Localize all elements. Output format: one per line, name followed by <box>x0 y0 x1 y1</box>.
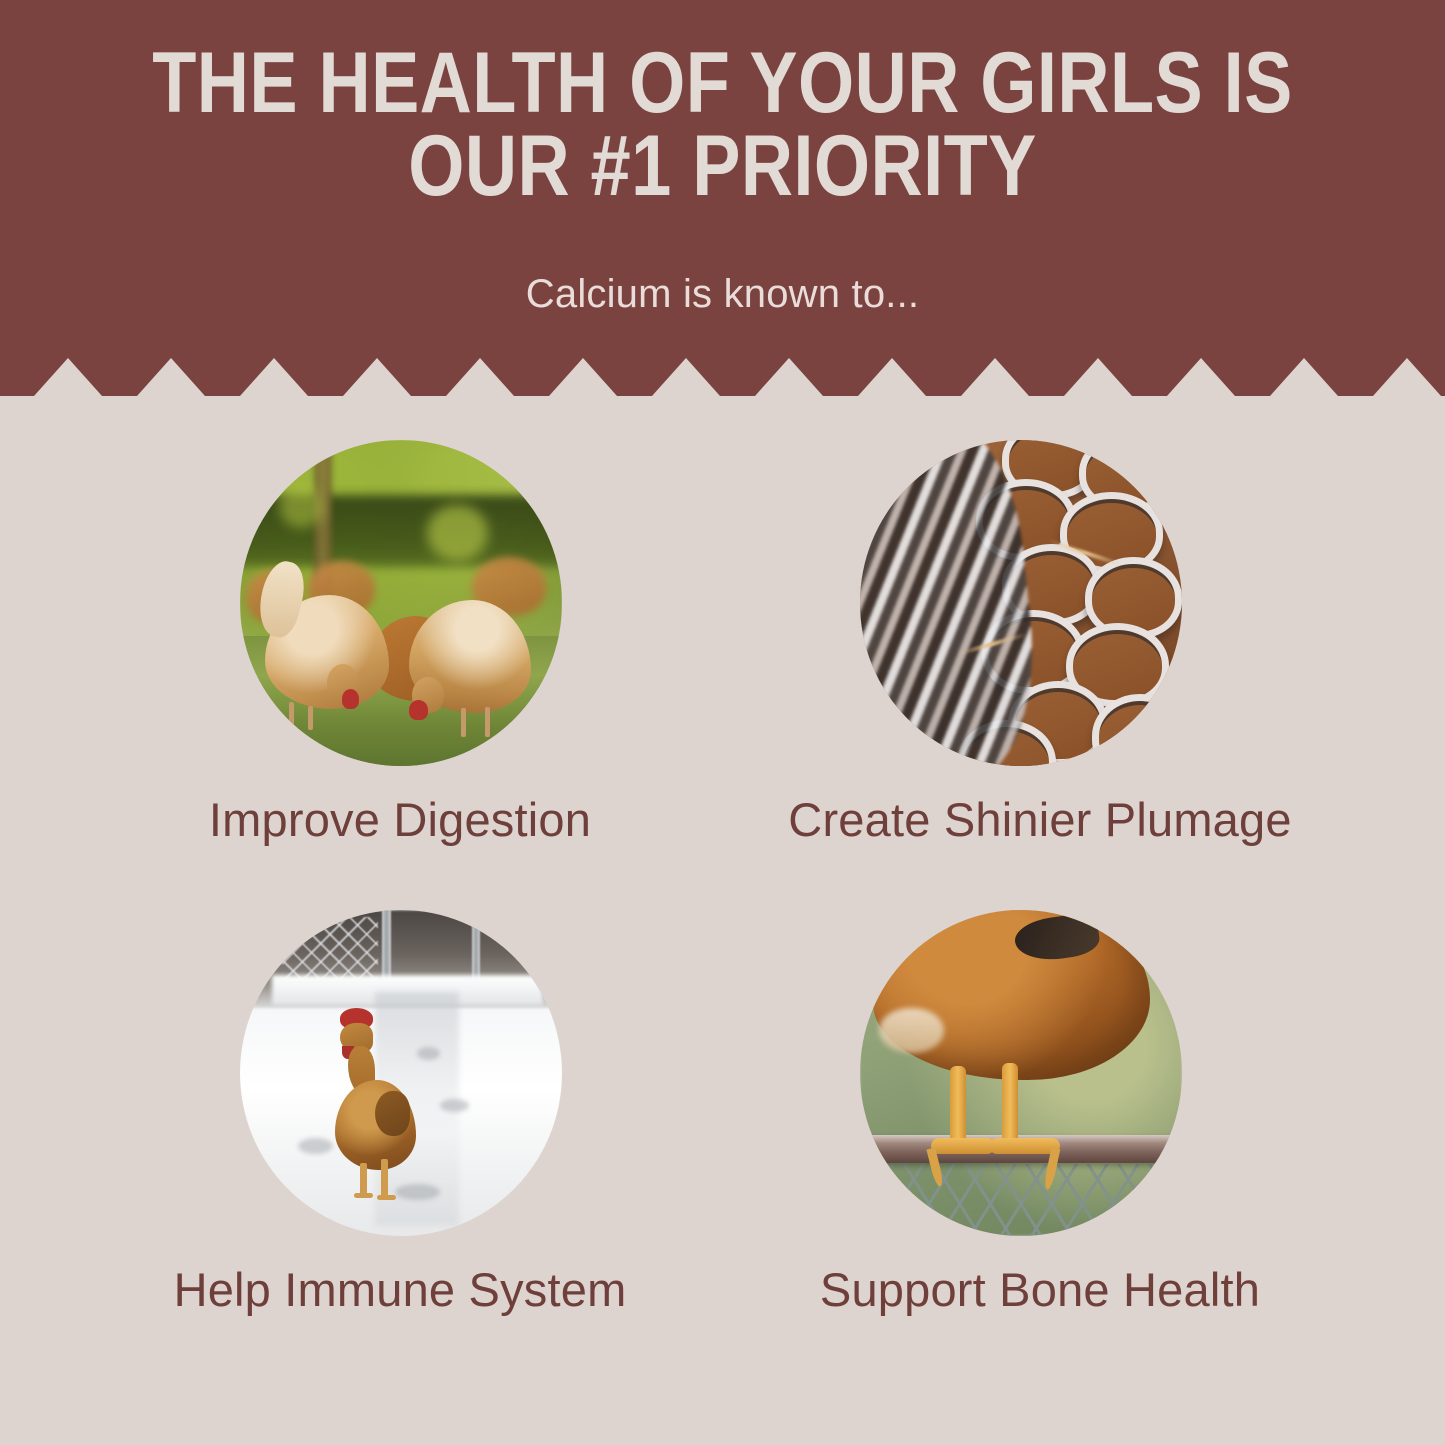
benefit-item-improve-digestion: Improve Digestion <box>80 440 720 843</box>
benefits-row-bottom: Help Immune System <box>0 910 1445 1380</box>
benefit-caption: Help Immune System <box>80 1266 720 1313</box>
page-title: THE HEALTH OF YOUR GIRLS IS OUR #1 PRIOR… <box>116 42 1330 209</box>
hen-leg <box>485 707 490 737</box>
bokeh-highlight <box>279 486 324 528</box>
hen-comb <box>409 700 428 720</box>
benefits-grid: Improve Digestion <box>0 440 1445 1380</box>
benefit-caption: Create Shinier Plumage <box>720 796 1360 843</box>
art-scene-grass-foraging <box>240 440 562 766</box>
art-scene-feather-macro <box>860 440 1182 766</box>
hen-leg <box>381 1159 388 1197</box>
hen-body <box>873 910 1150 1080</box>
hen-foot <box>377 1195 396 1200</box>
bokeh-highlight <box>427 505 488 560</box>
infographic-poster: THE HEALTH OF YOUR GIRLS IS OUR #1 PRIOR… <box>0 0 1445 1445</box>
zigzag-edge-icon <box>0 352 1445 415</box>
hen-right-foraging <box>401 570 536 736</box>
laced-feather-macro-photo <box>860 440 1182 766</box>
hen-leg <box>289 702 294 730</box>
hen-perched-on-fence-rail-photo <box>860 910 1182 1236</box>
hen-leg <box>360 1163 367 1197</box>
hen-leg <box>308 706 313 730</box>
two-buff-hens-foraging-in-grass-photo <box>240 440 562 766</box>
benefits-row-top: Improve Digestion <box>0 440 1445 910</box>
benefit-caption: Improve Digestion <box>80 796 720 843</box>
hen-comb <box>342 689 360 710</box>
hen-standing-in-snow-photo <box>240 910 562 1236</box>
chain-link-fence <box>886 1164 1156 1236</box>
hen-breast-highlight <box>879 1008 943 1054</box>
hen-in-snow <box>327 1008 424 1197</box>
hen-foot <box>354 1193 373 1198</box>
art-scene-snow <box>240 910 562 1236</box>
hen-left-foraging <box>259 557 394 730</box>
hen-wing <box>375 1091 410 1136</box>
benefit-item-support-bone-health: Support Bone Health <box>720 910 1360 1313</box>
benefit-caption: Support Bone Health <box>720 1266 1360 1313</box>
snow-dimple <box>440 1099 469 1112</box>
header-subtitle: Calcium is known to... <box>0 272 1445 317</box>
benefit-item-create-shinier-plumage: Create Shinier Plumage <box>720 440 1360 843</box>
header-banner: THE HEALTH OF YOUR GIRLS IS OUR #1 PRIOR… <box>0 0 1445 415</box>
hen-foot <box>989 1138 1060 1154</box>
benefit-item-help-immune-system: Help Immune System <box>80 910 720 1313</box>
hen-leg <box>461 708 466 736</box>
art-scene-fence-perch <box>860 910 1182 1236</box>
hen-foot <box>931 1138 995 1154</box>
